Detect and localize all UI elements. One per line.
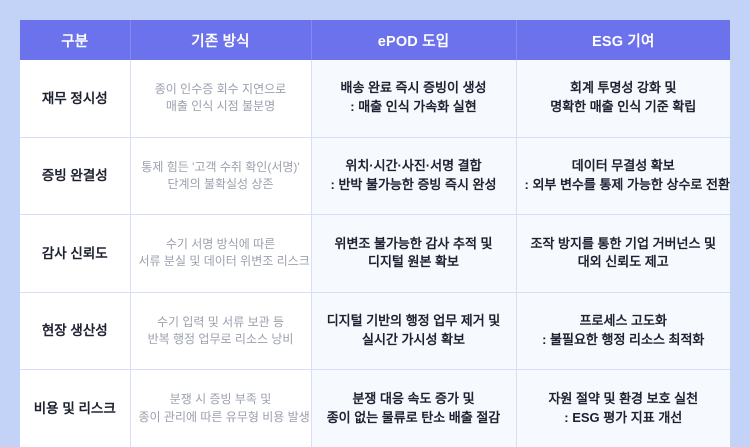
cell-line: 데이터 무결성 확보 [525,157,723,176]
cell-epod: 배송 완료 즉시 증빙이 생성 : 매출 인식 가속화 실현 [311,60,516,137]
esg-comparison-table: 구분 기존 방식 ePOD 도입 ESG 기여 재무 정시성 종이 인수증 회수… [20,20,730,447]
cell-esg: 자원 절약 및 환경 보호 실천 : ESG 평가 지표 개선 [516,370,730,447]
cell-line: : 매출 인식 가속화 실현 [320,98,508,117]
cell-category: 증빙 완결성 [20,137,130,215]
cell-legacy: 종이 인수증 회수 지연으로 매출 인식 시점 불분명 [130,60,311,137]
cell-line: 대외 신뢰도 제고 [525,253,723,272]
cell-line: 프로세스 고도화 [525,312,723,331]
cell-line: 종이 없는 물류로 탄소 배출 절감 [320,409,508,428]
table-row: 현장 생산성 수기 입력 및 서류 보관 등 반복 행정 업무로 리소스 낭비 … [20,292,730,370]
cell-epod: 분쟁 대응 속도 증가 및 종이 없는 물류로 탄소 배출 절감 [311,370,516,447]
table-row: 비용 및 리스크 분쟁 시 증빙 부족 및 종이 관리에 따른 유무형 비용 발… [20,370,730,447]
table-row: 증빙 완결성 통제 힘든 '고객 수취 확인(서명)' 단계의 불확실성 상존 … [20,137,730,215]
cell-line: 종이 관리에 따른 유무형 비용 발생 [139,409,303,426]
cell-legacy: 통제 힘든 '고객 수취 확인(서명)' 단계의 불확실성 상존 [130,137,311,215]
cell-line: 위치·시간·사진·서명 결합 [320,157,508,176]
cell-epod: 위치·시간·사진·서명 결합 : 반박 불가능한 증빙 즉시 완성 [311,137,516,215]
cell-line: 배송 완료 즉시 증빙이 생성 [320,79,508,98]
cell-esg: 데이터 무결성 확보 : 외부 변수를 통제 가능한 상수로 전환 [516,137,730,215]
cell-line: 조작 방지를 통한 기업 거버넌스 및 [525,235,723,254]
cell-line: 단계의 불확실성 상존 [139,176,303,193]
comparison-table-container: 구분 기존 방식 ePOD 도입 ESG 기여 재무 정시성 종이 인수증 회수… [20,20,730,404]
cell-line: 위변조 불가능한 감사 추적 및 [320,235,508,254]
cell-category: 재무 정시성 [20,60,130,137]
cell-line: 자원 절약 및 환경 보호 실천 [525,390,723,409]
column-header-epod: ePOD 도입 [311,20,516,60]
cell-line: 디지털 기반의 행정 업무 제거 및 [320,312,508,331]
cell-category: 감사 신뢰도 [20,215,130,293]
cell-legacy: 수기 서명 방식에 따른 서류 분실 및 데이터 위변조 리스크 [130,215,311,293]
cell-legacy: 분쟁 시 증빙 부족 및 종이 관리에 따른 유무형 비용 발생 [130,370,311,447]
cell-line: 통제 힘든 '고객 수취 확인(서명)' [139,159,303,176]
cell-line: 반복 행정 업무로 리소스 낭비 [139,331,303,348]
table-row: 감사 신뢰도 수기 서명 방식에 따른 서류 분실 및 데이터 위변조 리스크 … [20,215,730,293]
cell-epod: 위변조 불가능한 감사 추적 및 디지털 원본 확보 [311,215,516,293]
table-header-row: 구분 기존 방식 ePOD 도입 ESG 기여 [20,20,730,60]
cell-line: 회계 투명성 강화 및 [525,79,723,98]
table-row: 재무 정시성 종이 인수증 회수 지연으로 매출 인식 시점 불분명 배송 완료… [20,60,730,137]
cell-line: 서류 분실 및 데이터 위변조 리스크 [139,253,303,270]
cell-line: 디지털 원본 확보 [320,253,508,272]
cell-line: 분쟁 시 증빙 부족 및 [139,391,303,408]
cell-esg: 회계 투명성 강화 및 명확한 매출 인식 기준 확립 [516,60,730,137]
cell-esg: 조작 방지를 통한 기업 거버넌스 및 대외 신뢰도 제고 [516,215,730,293]
table-body: 재무 정시성 종이 인수증 회수 지연으로 매출 인식 시점 불분명 배송 완료… [20,60,730,447]
cell-line: : 불필요한 행정 리소스 최적화 [525,331,723,350]
cell-line: : 외부 변수를 통제 가능한 상수로 전환 [525,176,723,195]
cell-category: 비용 및 리스크 [20,370,130,447]
cell-line: 실시간 가시성 확보 [320,331,508,350]
cell-epod: 디지털 기반의 행정 업무 제거 및 실시간 가시성 확보 [311,292,516,370]
table-header: 구분 기존 방식 ePOD 도입 ESG 기여 [20,20,730,60]
column-header-category: 구분 [20,20,130,60]
cell-legacy: 수기 입력 및 서류 보관 등 반복 행정 업무로 리소스 낭비 [130,292,311,370]
cell-line: 매출 인식 시점 불분명 [139,98,303,115]
column-header-legacy: 기존 방식 [130,20,311,60]
column-header-esg: ESG 기여 [516,20,730,60]
cell-line: 명확한 매출 인식 기준 확립 [525,98,723,117]
cell-line: 종이 인수증 회수 지연으로 [139,81,303,98]
cell-line: : 반박 불가능한 증빙 즉시 완성 [320,176,508,195]
cell-line: 수기 입력 및 서류 보관 등 [139,314,303,331]
cell-line: 수기 서명 방식에 따른 [139,236,303,253]
cell-line: : ESG 평가 지표 개선 [525,409,723,428]
cell-esg: 프로세스 고도화 : 불필요한 행정 리소스 최적화 [516,292,730,370]
cell-line: 분쟁 대응 속도 증가 및 [320,390,508,409]
cell-category: 현장 생산성 [20,292,130,370]
